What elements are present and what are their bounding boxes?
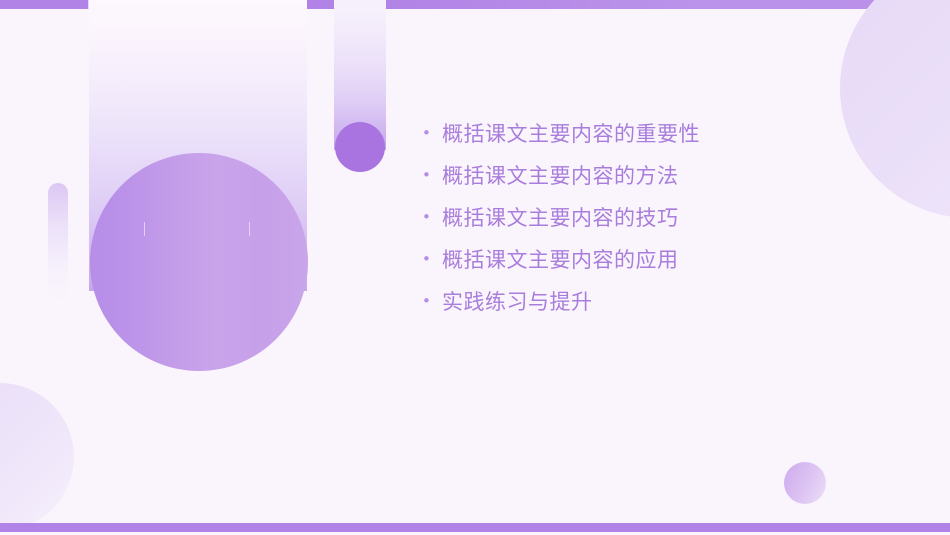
list-item-label: 概括课文主要内容的应用 bbox=[442, 244, 679, 274]
bullet-marker-icon: • bbox=[422, 294, 442, 309]
top-bar-segment-dark-two bbox=[306, 0, 334, 9]
list-item-label: 实践练习与提升 bbox=[442, 286, 593, 316]
rectangle-gradient-decoration bbox=[89, 0, 307, 291]
list-item-label: 概括课文主要内容的方法 bbox=[442, 160, 679, 190]
list-item: • 实践练习与提升 bbox=[422, 280, 892, 322]
bullet-marker-icon: • bbox=[422, 126, 442, 141]
hairline-left-decoration bbox=[144, 222, 145, 236]
list-item: • 概括课文主要内容的方法 bbox=[422, 154, 892, 196]
list-item: • 概括课文主要内容的技巧 bbox=[422, 196, 892, 238]
bottom-bar bbox=[0, 523, 950, 532]
bullet-marker-icon: • bbox=[422, 252, 442, 267]
list-item: • 概括课文主要内容的重要性 bbox=[422, 112, 892, 154]
circle-large-left-decoration bbox=[90, 153, 308, 371]
top-bar-segment-dark-left bbox=[0, 0, 88, 9]
column-gradient-decoration bbox=[334, 0, 386, 150]
top-bar-segment-light-one bbox=[88, 0, 306, 9]
circle-bottom-left-decoration bbox=[0, 383, 74, 531]
list-item-label: 概括课文主要内容的技巧 bbox=[442, 202, 679, 232]
bullet-list: • 概括课文主要内容的重要性 • 概括课文主要内容的方法 • 概括课文主要内容的… bbox=[422, 112, 892, 322]
bullet-marker-icon: • bbox=[422, 168, 442, 183]
pill-thin-left-decoration bbox=[48, 183, 68, 307]
list-item-label: 概括课文主要内容的重要性 bbox=[442, 118, 700, 148]
top-bar-segment-dark-right bbox=[386, 0, 950, 9]
slide-canvas: • 概括课文主要内容的重要性 • 概括课文主要内容的方法 • 概括课文主要内容的… bbox=[0, 0, 950, 535]
circle-small-bottom-right-decoration bbox=[784, 462, 826, 504]
circle-solid-accent-decoration bbox=[335, 122, 385, 172]
bullet-marker-icon: • bbox=[422, 210, 442, 225]
top-bar-segment-light-two bbox=[334, 0, 386, 9]
list-item: • 概括课文主要内容的应用 bbox=[422, 238, 892, 280]
hairline-right-decoration bbox=[249, 222, 250, 236]
